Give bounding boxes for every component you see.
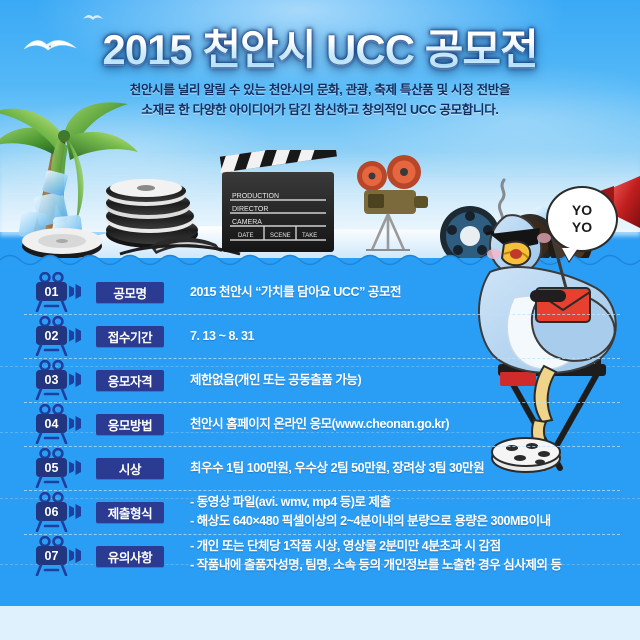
- page-title: 2015 천안시 UCC 공모전: [96, 16, 543, 77]
- svg-text:SCENE: SCENE: [270, 233, 291, 239]
- subtitle-line-2: 소재로 한 다양한 아이디어가 담긴 참신하고 창의적인 UCC 공모합니다.: [0, 100, 640, 120]
- svg-text:DIRECTOR: DIRECTOR: [232, 206, 268, 213]
- svg-text:CAMERA: CAMERA: [232, 219, 262, 226]
- movie-camera-icon: 04: [34, 404, 90, 444]
- movie-camera-icon: 07: [34, 536, 90, 576]
- movie-camera-icon: 02: [34, 316, 90, 356]
- row-number: 05: [38, 460, 65, 476]
- list-item: 02 접수기간 7. 13 ~ 8. 31: [0, 314, 640, 358]
- row-content: 7. 13 ~ 8. 31: [190, 327, 254, 346]
- row-content-line: - 작품내에 출품자성명, 팀명, 소속 등의 개인정보를 노출한 경우 심사제…: [190, 556, 562, 575]
- list-item: 05 시상 최우수 1팀 100만원, 우수상 2팀 50만원, 장려상 3팀 …: [0, 446, 640, 490]
- row-label-chip: 공모명: [96, 282, 164, 303]
- row-content-line: - 개인 또는 단체당 1작품 시상, 영상물 2분미만 4분초과 시 감점: [190, 537, 562, 556]
- row-content-line: 최우수 1팀 100만원, 우수상 2팀 50만원, 장려상 3팀 30만원: [190, 459, 484, 478]
- row-label-chip: 응모방법: [96, 414, 164, 435]
- speech-bubble: YO YO: [546, 186, 618, 252]
- row-label-chip: 시상: [96, 458, 164, 479]
- movie-camera-icon: 06: [34, 492, 90, 532]
- details-list: 01 공모명 2015 천안시 “가치를 담아요 UCC” 공모전 02 접수기…: [0, 270, 640, 578]
- movie-camera-icon: 05: [34, 448, 90, 488]
- row-number: 04: [38, 416, 65, 432]
- row-content-line: 2015 천안시 “가치를 담아요 UCC” 공모전: [190, 283, 401, 302]
- speech-line-1: YO: [572, 202, 592, 219]
- row-content-line: 천안시 홈페이지 온라인 응모(www.cheonan.go.kr): [190, 415, 449, 434]
- row-label-chip: 접수기간: [96, 326, 164, 347]
- list-item: 04 응모방법 천안시 홈페이지 온라인 응모(www.cheonan.go.k…: [0, 402, 640, 446]
- movie-camera-icon: 01: [34, 272, 90, 312]
- row-content: 최우수 1팀 100만원, 우수상 2팀 50만원, 장려상 3팀 30만원: [190, 459, 484, 478]
- row-number: 01: [38, 284, 65, 300]
- row-content-line: - 동영상 파일(avi. wmv, mp4 등)로 제출: [190, 493, 551, 512]
- movie-camera-icon: 03: [34, 360, 90, 400]
- speech-bubble-tail: [562, 248, 578, 261]
- svg-text:TAKE: TAKE: [302, 233, 317, 239]
- speech-line-2: YO: [572, 219, 592, 236]
- row-content-line: 제한없음(개인 또는 공동출품 가능): [190, 371, 361, 390]
- row-label-chip: 응모자격: [96, 370, 164, 391]
- list-item: 07 유의사항 - 개인 또는 단체당 1작품 시상, 영상물 2분미만 4분초…: [0, 534, 640, 578]
- row-content: 2015 천안시 “가치를 담아요 UCC” 공모전: [190, 283, 401, 302]
- svg-text:DATE: DATE: [238, 233, 254, 239]
- row-content: 제한없음(개인 또는 공동출품 가능): [190, 371, 361, 390]
- row-content-line: - 해상도 640×480 픽셀이상의 2~4분이내의 분량으로 용량은 300…: [190, 512, 551, 531]
- row-content: - 동영상 파일(avi. wmv, mp4 등)로 제출- 해상도 640×4…: [190, 493, 551, 531]
- title-block: 2015 천안시 UCC 공모전: [0, 16, 640, 77]
- row-number: 03: [38, 372, 65, 388]
- row-content-line: 7. 13 ~ 8. 31: [190, 327, 254, 346]
- list-item: 06 제출형식 - 동영상 파일(avi. wmv, mp4 등)로 제출- 해…: [0, 490, 640, 534]
- list-item: 01 공모명 2015 천안시 “가치를 담아요 UCC” 공모전: [0, 270, 640, 314]
- row-number: 02: [38, 328, 65, 344]
- list-item: 03 응모자격 제한없음(개인 또는 공동출품 가능): [0, 358, 640, 402]
- row-content: 천안시 홈페이지 온라인 응모(www.cheonan.go.kr): [190, 415, 449, 434]
- bottom-scallop-edge: [0, 602, 640, 618]
- row-label-chip: 제출형식: [96, 502, 164, 523]
- row-number: 07: [38, 548, 65, 564]
- poster-canvas: PRODUCTION DIRECTOR CAMERA DATE SCENE TA…: [0, 0, 640, 640]
- subtitle-block: 천안시를 널리 알릴 수 있는 천안시의 문화, 관광, 축제 특산품 및 시정…: [0, 80, 640, 120]
- row-content: - 개인 또는 단체당 1작품 시상, 영상물 2분미만 4분초과 시 감점- …: [190, 537, 562, 575]
- row-label-chip: 유의사항: [96, 546, 164, 567]
- svg-text:PRODUCTION: PRODUCTION: [232, 193, 279, 200]
- row-number: 06: [38, 504, 65, 520]
- subtitle-line-1: 천안시를 널리 알릴 수 있는 천안시의 문화, 관광, 축제 특산품 및 시정…: [0, 80, 640, 100]
